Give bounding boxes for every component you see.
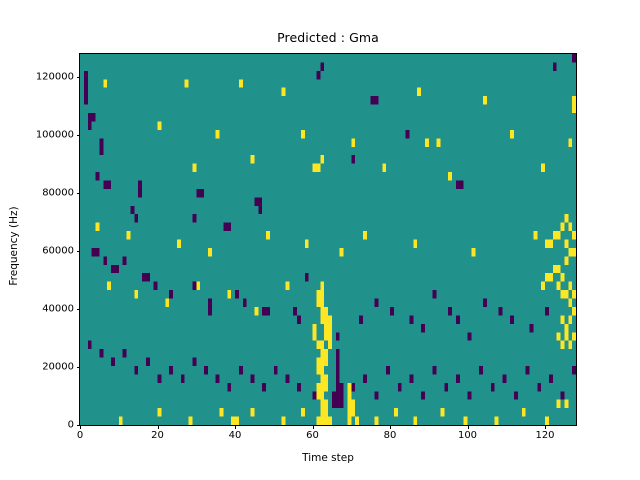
x-tick-label: 100 [458, 430, 477, 441]
y-tick-label: 120000 [36, 72, 74, 83]
y-tick-label: 80000 [42, 188, 74, 199]
matplotlib-figure: Predicted : Gma 020000400006000080000100… [0, 0, 640, 480]
x-tick-label: 40 [229, 430, 242, 441]
chart-title: Predicted : Gma [80, 30, 576, 45]
x-tick-label: 60 [306, 430, 319, 441]
x-tick-label: 80 [384, 430, 397, 441]
x-tick-label: 20 [151, 430, 164, 441]
y-axis-label: Frequency (Hz) [8, 136, 20, 356]
x-axis-label: Time step [80, 452, 576, 464]
y-tick-label: 20000 [42, 362, 74, 373]
y-tick-label: 40000 [42, 304, 74, 315]
x-axis-ticks [80, 54, 576, 425]
y-tick-label: 60000 [42, 246, 74, 257]
x-axis-tick-labels: 020406080100120 [80, 425, 576, 455]
y-tick-label: 0 [68, 420, 74, 431]
x-tick-label: 0 [77, 430, 83, 441]
y-tick-label: 100000 [36, 130, 74, 141]
x-tick-label: 120 [535, 430, 554, 441]
